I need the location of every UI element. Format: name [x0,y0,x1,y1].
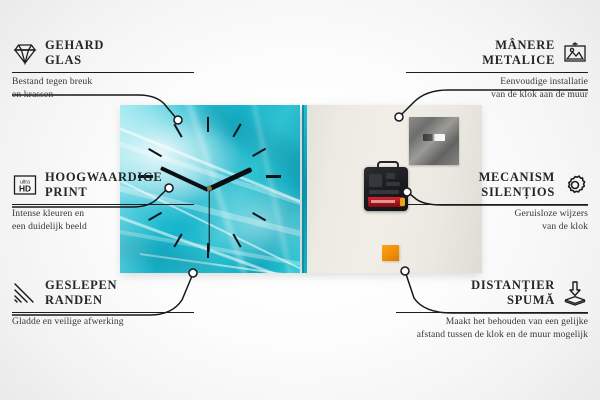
feature-rule [12,72,194,74]
feature-rule [406,204,588,206]
feature-title: MÂNEREMETALICE [406,38,555,69]
feature-title: GEHARDGLAS [45,38,104,69]
feature-title: MECANISMSILENȚIOS [406,170,555,201]
clock-center-pivot [207,186,212,191]
feature-geslepen-randen[interactable]: GESLEPENRANDEN Gladde en veilige afwerki… [12,278,194,329]
hanger-slot [423,134,445,141]
feature-rule [396,312,588,314]
picture-frame-icon [562,40,588,66]
feature-header: MÂNEREMETALICE [406,38,588,69]
gear-icon [562,172,588,198]
feature-subtitle: Intense kleuren eneen duidelijk beeld [12,208,194,234]
clock-tick [207,117,209,132]
feature-subtitle: Maakt het behouden van een gelijkeafstan… [396,316,588,342]
clock-second-hand [208,190,209,252]
feature-subtitle: Eenvoudige installatievan de klok aan de… [406,76,588,102]
feature-header: DISTANȚIERSPUMĂ [396,278,588,309]
feature-header: ultra HD HOOGWAARDIGEPRINT [12,170,194,201]
feature-rule [12,312,194,314]
feature-header: GEHARDGLAS [12,38,194,69]
infographic-canvas: GEHARDGLAS Bestand tegen breuken krassen… [0,0,600,400]
beveled-edge-icon [12,280,38,306]
feature-subtitle: Geruisloze wijzersvan de klok [406,208,588,234]
feature-distantier-spuma[interactable]: DISTANȚIERSPUMĂ Maakt het behouden van e… [396,278,588,342]
feature-title: GESLEPENRANDEN [45,278,117,309]
metal-hanger-plate [409,117,459,165]
clock-tick [266,175,281,178]
foam-spacer-icon [562,280,588,306]
diamond-icon [12,40,38,66]
feature-rule [12,204,194,206]
panel-teal-edge [304,105,307,273]
feature-hoogwaardige-print[interactable]: ultra HD HOOGWAARDIGEPRINT Intense kleur… [12,170,194,234]
orange-foam-spacer [382,245,399,261]
feature-gehard-glas[interactable]: GEHARDGLAS Bestand tegen breuken krassen [12,38,194,102]
quartz-mechanism [364,167,408,211]
ultra-hd-icon: ultra HD [12,172,38,198]
battery-label-strip [371,200,395,203]
feature-header: MECANISMSILENȚIOS [406,170,588,201]
feature-header: GESLEPENRANDEN [12,278,194,309]
mechanism-hook [377,161,399,171]
feature-subtitle: Gladde en veilige afwerking [12,316,194,329]
feature-manere-metalice[interactable]: MÂNEREMETALICE Eenvoudige installatievan… [406,38,588,102]
feature-subtitle: Bestand tegen breuken krassen [12,76,194,102]
svg-text:HD: HD [19,184,31,194]
feature-title: HOOGWAARDIGEPRINT [45,170,162,201]
feature-mecanism-silentios[interactable]: MECANISMSILENȚIOS Geruisloze wijzersvan … [406,170,588,234]
feature-title: DISTANȚIERSPUMĂ [396,278,555,309]
clock-battery [368,197,404,207]
battery-terminal [400,198,405,206]
feature-rule [406,72,588,74]
